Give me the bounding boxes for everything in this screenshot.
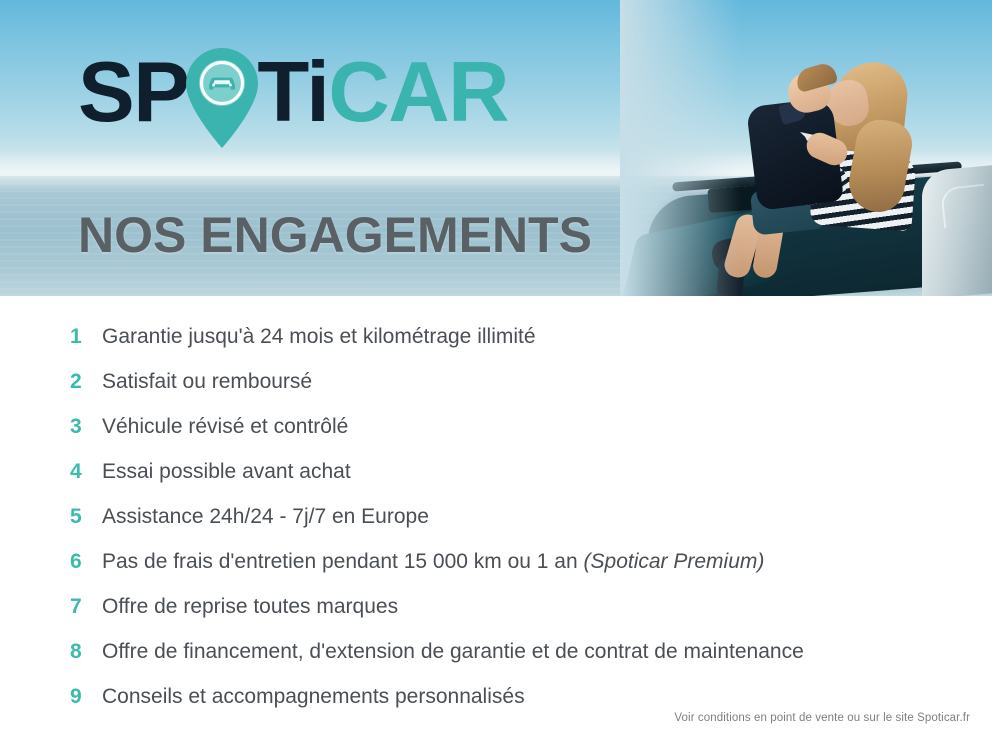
commitment-number: 1: [70, 326, 102, 347]
commitment-number: 6: [70, 551, 102, 572]
commitment-text-main: Offre de financement, d'extension de gar…: [102, 640, 804, 663]
commitment-number: 4: [70, 461, 102, 482]
commitment-text-main: Véhicule révisé et contrôlé: [102, 415, 348, 438]
page-title: NOS ENGAGEMENTS: [78, 210, 592, 260]
spoticar-commitments-page: SP Ti CAR NOS ENGAGEMENTS: [0, 0, 992, 744]
commitment-number: 8: [70, 641, 102, 662]
commitment-number: 2: [70, 371, 102, 392]
commitment-text-emphasis: (Spoticar Premium): [584, 550, 765, 573]
commitment-text-main: Offre de reprise toutes marques: [102, 595, 398, 618]
commitment-item: 5Assistance 24h/24 - 7j/7 en Europe: [0, 506, 992, 551]
map-pin-car-icon: [184, 46, 260, 150]
commitment-text: Offre de reprise toutes marques: [102, 596, 398, 617]
commitment-item: 6Pas de frais d'entretien pendant 15 000…: [0, 551, 992, 596]
commitment-number: 7: [70, 596, 102, 617]
commitment-item: 9Conseils et accompagnements personnalis…: [0, 686, 992, 731]
commitment-item: 2Satisfait ou remboursé: [0, 371, 992, 416]
commitments-list: 1Garantie jusqu'à 24 mois et kilométrage…: [0, 326, 992, 731]
commitment-item: 3Véhicule révisé et contrôlé: [0, 416, 992, 461]
commitment-text: Satisfait ou remboursé: [102, 371, 312, 392]
logo-mid: Ti: [257, 50, 328, 135]
commitment-text-main: Pas de frais d'entretien pendant 15 000 …: [102, 550, 584, 573]
commitment-text-main: Assistance 24h/24 - 7j/7 en Europe: [102, 505, 429, 528]
logo-suffix: CAR: [328, 50, 508, 135]
commitment-item: 7Offre de reprise toutes marques: [0, 596, 992, 641]
commitment-text: Essai possible avant achat: [102, 461, 351, 482]
commitment-number: 3: [70, 416, 102, 437]
commitment-item: 1Garantie jusqu'à 24 mois et kilométrage…: [0, 326, 992, 371]
footer-disclaimer: Voir conditions en point de vente ou sur…: [674, 712, 970, 724]
hero-banner: SP Ti CAR NOS ENGAGEMENTS: [0, 0, 992, 296]
car-pillar-highlight: [940, 184, 988, 228]
commitments-section: 1Garantie jusqu'à 24 mois et kilométrage…: [0, 296, 992, 731]
commitment-text-main: Essai possible avant achat: [102, 460, 351, 483]
commitment-text: Offre de financement, d'extension de gar…: [102, 641, 804, 662]
hero-photo: [620, 0, 992, 296]
commitment-item: 4Essai possible avant achat: [0, 461, 992, 506]
commitment-text-main: Satisfait ou remboursé: [102, 370, 312, 393]
commitment-text: Garantie jusqu'à 24 mois et kilométrage …: [102, 326, 536, 347]
commitment-item: 8Offre de financement, d'extension de ga…: [0, 641, 992, 686]
logo-prefix: SP: [78, 50, 188, 135]
commitment-text: Assistance 24h/24 - 7j/7 en Europe: [102, 506, 429, 527]
commitment-text-main: Conseils et accompagnements personnalisé…: [102, 685, 525, 708]
commitment-text-main: Garantie jusqu'à 24 mois et kilométrage …: [102, 325, 536, 348]
commitment-number: 9: [70, 686, 102, 707]
commitment-text: Conseils et accompagnements personnalisé…: [102, 686, 525, 707]
commitment-text: Pas de frais d'entretien pendant 15 000 …: [102, 551, 764, 572]
commitment-text: Véhicule révisé et contrôlé: [102, 416, 348, 437]
commitment-number: 5: [70, 506, 102, 527]
spoticar-logo: SP Ti CAR: [78, 44, 508, 140]
